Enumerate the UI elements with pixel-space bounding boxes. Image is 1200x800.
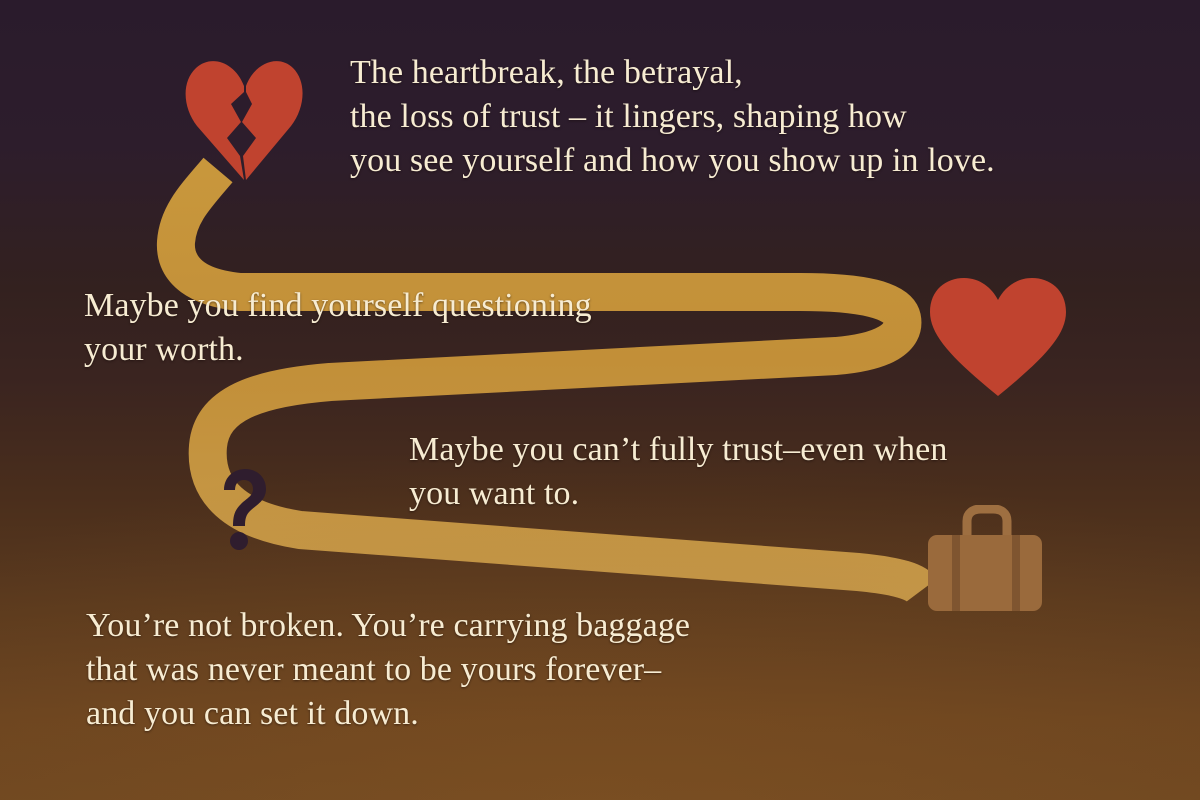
text-block-trust: Maybe you can’t fully trust–even when yo… bbox=[409, 428, 947, 516]
suitcase-icon bbox=[922, 505, 1048, 615]
heart-icon bbox=[928, 276, 1068, 398]
infographic-poster: The heartbreak, the betrayal, the loss o… bbox=[0, 0, 1200, 800]
broken-heart-icon bbox=[183, 52, 305, 182]
text-block-heartbreak: The heartbreak, the betrayal, the loss o… bbox=[350, 51, 995, 184]
text-block-worth: Maybe you find yourself questioning your… bbox=[84, 284, 592, 372]
text-block-baggage: You’re not broken. You’re carrying bagga… bbox=[86, 604, 690, 737]
question-mark-icon bbox=[214, 468, 270, 552]
